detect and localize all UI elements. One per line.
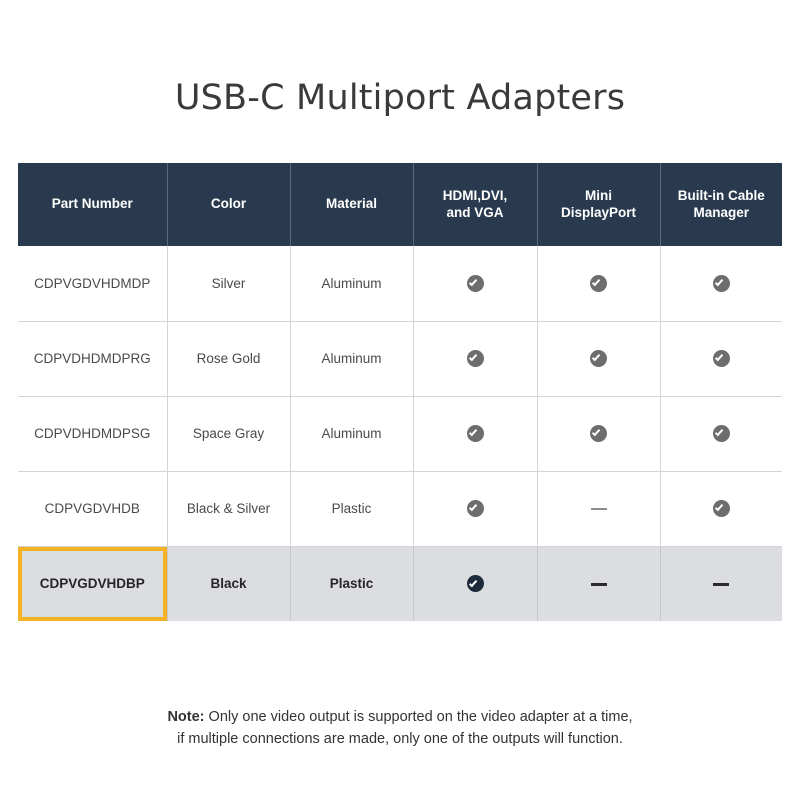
cell-material: Aluminum	[290, 321, 413, 396]
check-icon	[590, 275, 607, 292]
table-header-row: Part Number Color Material HDMI,DVI, and…	[18, 163, 782, 246]
table-row-highlighted: CDPVGDVHDBP Black Plastic	[18, 546, 782, 621]
check-icon	[467, 500, 484, 517]
cell-mini-displayport	[537, 321, 660, 396]
check-icon	[590, 425, 607, 442]
check-icon	[467, 350, 484, 367]
column-header-hdmi-dvi-vga: HDMI,DVI, and VGA	[413, 163, 537, 246]
table-row: CDPVDHDMDPSG Space Gray Aluminum	[18, 396, 782, 471]
cell-material: Aluminum	[290, 396, 413, 471]
cell-part-number-text: CDPVGDVHDBP	[40, 576, 145, 591]
cell-hdmi-dvi-vga	[413, 321, 537, 396]
table-row: CDPVDHDMDPRG Rose Gold Aluminum	[18, 321, 782, 396]
cell-built-in-cable-manager	[660, 546, 782, 621]
cell-color: Black & Silver	[167, 471, 290, 546]
cell-mini-displayport	[537, 471, 660, 546]
column-header-built-in-cable-manager: Built-in Cable Manager	[660, 163, 782, 246]
column-header-label-line2: DisplayPort	[561, 205, 636, 220]
dash-icon	[713, 583, 729, 586]
check-icon	[467, 425, 484, 442]
spec-table-container: Part Number Color Material HDMI,DVI, and…	[18, 163, 782, 621]
dash-icon	[591, 583, 607, 586]
page-root: USB-C Multiport Adapters Part Number Col…	[0, 0, 800, 800]
page-title: USB-C Multiport Adapters	[0, 78, 800, 118]
table-row: CDPVGDVHDB Black & Silver Plastic	[18, 471, 782, 546]
cell-built-in-cable-manager	[660, 471, 782, 546]
cell-built-in-cable-manager	[660, 321, 782, 396]
cell-mini-displayport	[537, 246, 660, 321]
column-header-label: Color	[211, 196, 246, 211]
check-icon	[713, 500, 730, 517]
cell-mini-displayport	[537, 396, 660, 471]
check-icon	[590, 350, 607, 367]
column-header-label-line2: Manager	[693, 205, 749, 220]
dash-icon	[591, 508, 607, 510]
column-header-label-line1: Built-in Cable	[678, 188, 765, 203]
footer-note-line2: if multiple connections are made, only o…	[0, 728, 800, 750]
cell-built-in-cable-manager	[660, 396, 782, 471]
column-header-label: Material	[326, 196, 377, 211]
check-icon	[713, 275, 730, 292]
cell-part-number: CDPVGDVHDB	[18, 471, 167, 546]
column-header-label-line2: and VGA	[446, 205, 503, 220]
column-header-label: Part Number	[52, 196, 133, 211]
column-header-material: Material	[290, 163, 413, 246]
column-header-label-line1: HDMI,DVI,	[443, 188, 508, 203]
footer-note-line1: Note: Only one video output is supported…	[0, 706, 800, 728]
cell-mini-displayport	[537, 546, 660, 621]
column-header-label-line1: Mini	[585, 188, 612, 203]
check-icon	[713, 350, 730, 367]
cell-color: Silver	[167, 246, 290, 321]
check-icon	[713, 425, 730, 442]
column-header-part-number: Part Number	[18, 163, 167, 246]
cell-material: Aluminum	[290, 246, 413, 321]
cell-hdmi-dvi-vga	[413, 246, 537, 321]
cell-hdmi-dvi-vga	[413, 396, 537, 471]
table-body: CDPVGDVHDMDP Silver Aluminum CDPVDHDMDPR…	[18, 246, 782, 621]
footer-note-lead: Note:	[167, 709, 204, 725]
usb-c-multiport-adapters-table: Part Number Color Material HDMI,DVI, and…	[18, 163, 782, 621]
cell-material: Plastic	[290, 546, 413, 621]
column-header-mini-displayport: Mini DisplayPort	[537, 163, 660, 246]
table-header: Part Number Color Material HDMI,DVI, and…	[18, 163, 782, 246]
cell-color: Black	[167, 546, 290, 621]
cell-part-number-highlighted: CDPVGDVHDBP	[18, 546, 167, 621]
cell-hdmi-dvi-vga	[413, 471, 537, 546]
cell-color: Space Gray	[167, 396, 290, 471]
cell-built-in-cable-manager	[660, 246, 782, 321]
check-icon	[467, 275, 484, 292]
column-header-color: Color	[167, 163, 290, 246]
footer-note: Note: Only one video output is supported…	[0, 706, 800, 751]
table-row: CDPVGDVHDMDP Silver Aluminum	[18, 246, 782, 321]
cell-hdmi-dvi-vga	[413, 546, 537, 621]
check-icon	[467, 575, 484, 592]
cell-part-number: CDPVDHDMDPSG	[18, 396, 167, 471]
footer-note-line1-text: Only one video output is supported on th…	[205, 709, 633, 725]
cell-material: Plastic	[290, 471, 413, 546]
cell-part-number: CDPVGDVHDMDP	[18, 246, 167, 321]
cell-color: Rose Gold	[167, 321, 290, 396]
cell-part-number: CDPVDHDMDPRG	[18, 321, 167, 396]
